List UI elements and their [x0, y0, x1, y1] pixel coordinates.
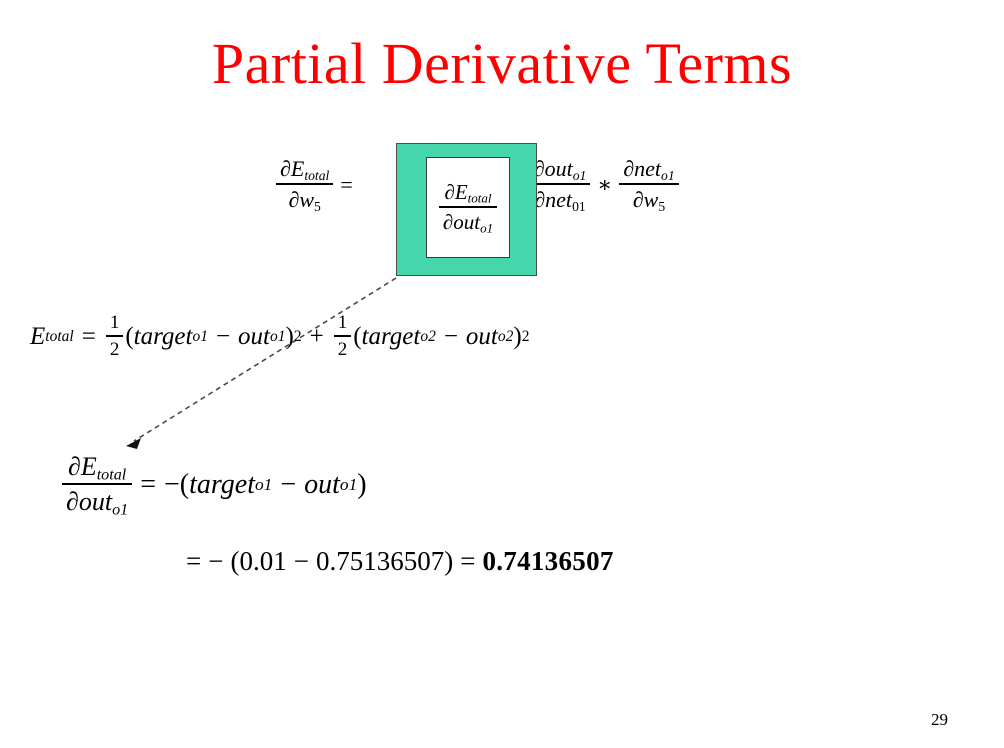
partial-symbol: ∂	[633, 187, 644, 212]
minus-sign: −	[208, 323, 238, 351]
partial-symbol: ∂	[66, 487, 79, 516]
open-paren: (	[353, 323, 361, 351]
derivative-numerator: ∂Etotal	[62, 452, 132, 485]
partial-symbol: ∂	[444, 180, 454, 204]
one-half-fraction-second: 1 2	[334, 312, 352, 361]
open-paren: (	[180, 469, 189, 501]
close-paren: )	[286, 323, 294, 351]
fraction-numerator: 1	[334, 312, 352, 337]
plus-sign: +	[302, 323, 332, 351]
result-equation: = −(0.01 −0.75136507) = 0.74136507	[186, 546, 614, 577]
partial-symbol: ∂	[443, 210, 453, 234]
variable-e: E	[30, 323, 45, 351]
equals-sign: =	[132, 469, 164, 501]
fraction-denominator: 2	[106, 337, 124, 361]
partial-symbol: ∂	[288, 187, 299, 212]
page-number: 29	[931, 710, 948, 730]
dashed-connector-arrow	[0, 0, 1004, 748]
fraction-numerator: 1	[106, 312, 124, 337]
derivative-equation: ∂Etotal ∂outo1 = −(targeto1 −outo1)	[62, 452, 367, 517]
partial-symbol: ∂	[280, 156, 291, 181]
subscript-total: total	[97, 467, 127, 484]
chain-rule-term2-numerator: ∂outo1	[530, 156, 591, 185]
etotal-definition-equation: Etotal = 1 2 (targeto1 −outo1)2 + 1 2 (t…	[30, 312, 529, 361]
variable-net: net	[634, 156, 661, 181]
open-paren: (	[230, 546, 239, 577]
output-value: 0.75136507	[316, 546, 444, 577]
variable-out: out	[453, 210, 480, 234]
variable-out: out	[466, 323, 498, 351]
derivative-lhs-fraction: ∂Etotal ∂outo1	[62, 452, 132, 517]
chain-rule-lhs-denominator: ∂w5	[276, 185, 333, 213]
fraction-denominator: 2	[334, 337, 352, 361]
partial-symbol: ∂	[68, 452, 81, 481]
variable-target: target	[134, 323, 193, 351]
variable-w: w	[644, 187, 659, 212]
multiply-sign: ∗	[590, 172, 619, 198]
chain-rule-term2-fraction: ∂outo1 ∂net01	[530, 156, 591, 213]
page-title: Partial Derivative Terms	[0, 34, 1004, 95]
connector-arrowhead	[126, 438, 141, 449]
variable-net: net	[545, 187, 572, 212]
chain-rule-term2-denominator: ∂net01	[530, 185, 591, 213]
chain-rule-lhs-numerator: ∂Etotal	[276, 156, 333, 185]
negative-sign: −	[201, 546, 230, 577]
slide-canvas: Partial Derivative Terms ∂Etotal ∂w5 = ∗…	[0, 0, 1004, 748]
negative-sign: −	[164, 469, 180, 501]
derivative-denominator: ∂outo1	[62, 485, 132, 517]
minus-sign: −	[272, 469, 304, 501]
variable-out: out	[545, 156, 573, 181]
minus-sign: −	[436, 323, 466, 351]
variable-e: E	[291, 156, 304, 181]
partial-symbol: ∂	[623, 156, 634, 181]
subscript-01: 01	[572, 199, 586, 214]
equals-sign: =	[74, 323, 104, 351]
minus-sign: −	[287, 546, 316, 577]
variable-out: out	[79, 487, 112, 516]
open-paren: (	[125, 323, 133, 351]
variable-out: out	[304, 469, 340, 501]
variable-e: E	[81, 452, 97, 481]
chain-rule-lhs-fraction: ∂Etotal ∂w5	[276, 156, 333, 213]
highlighted-numerator: ∂Etotal	[439, 180, 497, 208]
variable-e: E	[455, 180, 468, 204]
subscript-total: total	[468, 191, 492, 206]
highlighted-fraction: ∂Etotal ∂outo1	[439, 180, 497, 235]
chain-rule-term3-fraction: ∂neto1 ∂w5	[619, 156, 678, 213]
variable-target: target	[362, 323, 421, 351]
one-half-fraction-first: 1 2	[106, 312, 124, 361]
subscript-5: 5	[658, 199, 665, 214]
chain-rule-term3-denominator: ∂w5	[619, 185, 678, 213]
variable-target: target	[189, 469, 255, 501]
variable-w: w	[299, 187, 314, 212]
equals-sign: =	[453, 546, 482, 577]
highlighted-denominator: ∂outo1	[439, 208, 497, 235]
subscript-total: total	[304, 168, 329, 183]
close-paren: )	[357, 469, 366, 501]
variable-out: out	[238, 323, 270, 351]
chain-rule-term3-numerator: ∂neto1	[619, 156, 678, 185]
subscript-5: 5	[314, 199, 321, 214]
equals-sign: =	[333, 172, 358, 198]
close-paren: )	[513, 323, 521, 351]
subscript-o1: o1	[112, 502, 128, 519]
target-value: 0.01	[239, 546, 286, 577]
subscript-o1: o1	[480, 221, 493, 236]
highlighted-derivative-term: ∂Etotal ∂outo1	[426, 157, 510, 258]
subscript-o1: o1	[573, 168, 587, 183]
equals-sign: =	[186, 546, 201, 577]
result-value: 0.74136507	[482, 546, 613, 577]
subscript-o1: o1	[661, 168, 675, 183]
close-paren: )	[444, 546, 453, 577]
